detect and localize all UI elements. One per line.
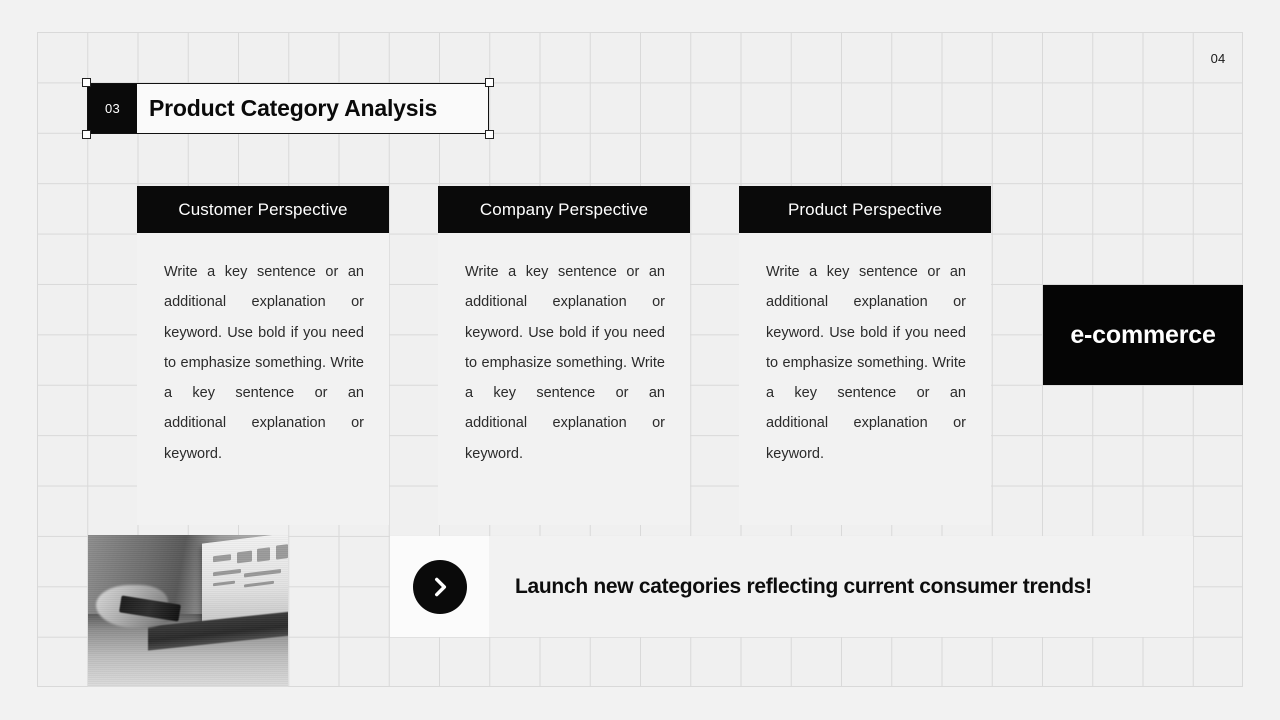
selection-handle-bottom-left[interactable] [82,130,91,139]
column-header-customer: Customer Perspective [137,186,389,233]
column-body-company: Write a key sentence or an additional ex… [438,233,690,525]
perspective-column-customer[interactable]: Customer Perspective Write a key sentenc… [137,186,389,525]
slide-root: 04 03 Product Category Analysis Customer… [0,0,1280,720]
title-badge-number: 03 [88,84,137,133]
page-number: 04 [1193,33,1243,83]
selection-handle-top-left[interactable] [82,78,91,87]
ecommerce-badge[interactable]: e-commerce [1043,285,1243,385]
column-header-company: Company Perspective [438,186,690,233]
perspective-column-product[interactable]: Product Perspective Write a key sentence… [739,186,991,525]
column-body-product: Write a key sentence or an additional ex… [739,233,991,525]
cta-message[interactable]: Launch new categories reflecting current… [489,536,1193,637]
laptop-credit-card-photo[interactable] [88,535,288,687]
title-selection-group[interactable]: 03 Product Category Analysis [87,83,489,134]
column-body-customer: Write a key sentence or an additional ex… [137,233,389,525]
perspective-column-company[interactable]: Company Perspective Write a key sentence… [438,186,690,525]
page-title: Product Category Analysis [137,84,488,133]
title-shape[interactable]: 03 Product Category Analysis [87,83,489,134]
selection-handle-bottom-right[interactable] [485,130,494,139]
column-header-product: Product Perspective [739,186,991,233]
selection-handle-top-right[interactable] [485,78,494,87]
chevron-right-icon[interactable] [413,560,467,614]
cta-icon-box[interactable] [390,536,489,637]
